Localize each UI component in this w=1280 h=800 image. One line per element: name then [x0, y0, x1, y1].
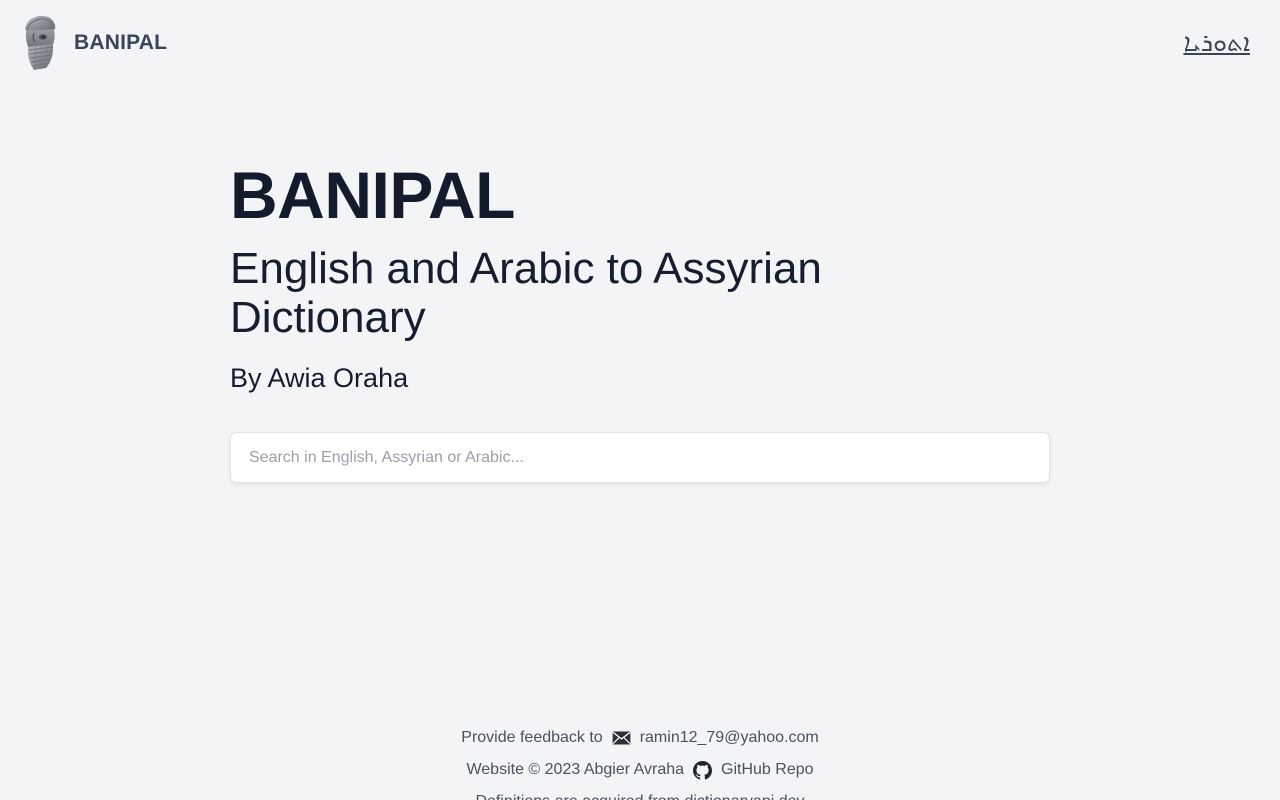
footer-feedback-label: Provide feedback to — [461, 722, 602, 754]
page-title: BANIPAL — [230, 160, 1060, 231]
footer-copyright: Website © 2023 Abgier Avraha — [466, 754, 684, 786]
page-subtitle: English and Arabic to Assyrian Dictionar… — [230, 245, 890, 342]
search-section — [230, 432, 1050, 483]
github-icon — [693, 761, 712, 780]
envelope-icon — [612, 731, 631, 745]
footer-attribution: Definitions are acquired from dictionary… — [0, 786, 1280, 800]
brand-home-link[interactable]: BANIPAL — [16, 13, 167, 71]
github-repo-link[interactable]: GitHub Repo — [721, 754, 814, 786]
page-author: By Awia Oraha — [230, 364, 1060, 394]
footer-feedback-line: Provide feedback to ramin12_79@yahoo.com — [0, 722, 1280, 754]
hero-section: BANIPAL English and Arabic to Assyrian D… — [230, 160, 1060, 394]
footer-copyright-line: Website © 2023 Abgier Avraha GitHub Repo — [0, 754, 1280, 786]
brand-name: BANIPAL — [74, 32, 167, 53]
language-toggle-link[interactable]: ܐܬܘܪܝܐ — [1183, 30, 1264, 55]
navbar: BANIPAL ܐܬܘܪܝܐ — [0, 0, 1280, 84]
search-input[interactable] — [230, 432, 1050, 483]
assyrian-statue-logo-icon — [16, 13, 60, 71]
footer: Provide feedback to ramin12_79@yahoo.com… — [0, 722, 1280, 800]
feedback-email-link[interactable]: ramin12_79@yahoo.com — [640, 722, 819, 754]
